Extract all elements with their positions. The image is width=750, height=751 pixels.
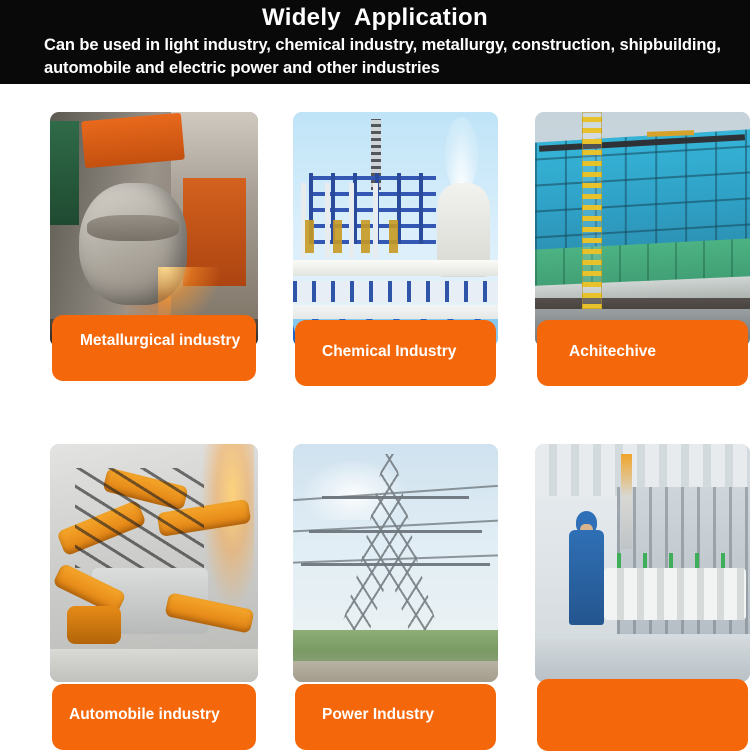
card-label-textile [537,679,748,751]
card-label-architecture: Achitechive [537,320,748,386]
card-label-power: Power Industry [295,684,496,750]
application-card-metallurgical[interactable]: Metallurgical industry [50,112,258,417]
architecture-photo [535,112,750,347]
page-title: Widely Application [0,3,750,33]
card-label-metallurgical: Metallurgical industry [52,315,256,381]
page-subtitle: Can be used in light industry, chemical … [44,34,750,80]
page-header: Widely Application Can be used in light … [0,0,750,84]
application-card-chemical[interactable]: Chemical Industry [293,112,498,417]
application-card-architecture[interactable]: Achitechive [535,112,750,417]
metallurgical-industry-photo [50,112,258,347]
power-industry-photo [293,444,498,682]
application-card-power[interactable]: Power Industry [293,444,498,751]
card-label-chemical: Chemical Industry [295,320,496,386]
application-card-textile[interactable] [535,444,750,751]
textile-industry-photo [535,444,750,682]
chemical-industry-photo [293,112,498,347]
application-card-grid: Metallurgical industry Chemical Industry [0,84,750,751]
card-label-automobile: Automobile industry [52,684,256,750]
automobile-industry-photo [50,444,258,682]
application-card-automobile[interactable]: Automobile industry [50,444,258,751]
